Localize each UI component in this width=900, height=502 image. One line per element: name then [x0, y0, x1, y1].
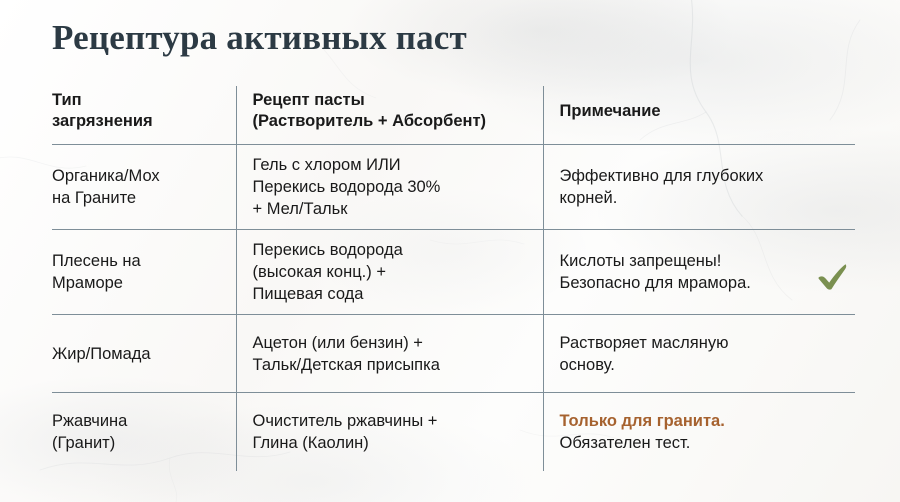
- cell-note: Кислоты запрещены! Безопасно для мрамора…: [543, 230, 855, 315]
- text-line-2: на Граните: [52, 187, 222, 209]
- text-line-2: Безопасно для мрамора.: [560, 272, 842, 294]
- text-line-1: Ржавчина: [52, 410, 222, 432]
- header-line-2: (Растворитель + Абсорбент): [253, 111, 529, 132]
- text-line-3: Пищевая сода: [253, 283, 529, 305]
- cell-contamination-type: Органика/Мох на Граните: [52, 145, 236, 230]
- cell-note: Растворяет масляную основу.: [543, 315, 855, 393]
- table-row: Ржавчина (Гранит) Очиститель ржавчины + …: [52, 393, 855, 471]
- column-header-contamination-type: Тип загрязнения: [52, 86, 236, 145]
- text-line-2: основу.: [560, 354, 842, 376]
- active-paste-recipe-table: Тип загрязнения Рецепт пасты (Растворите…: [52, 86, 855, 471]
- header-line-1: Тип: [52, 90, 222, 111]
- text-line-1: Кислоты запрещены!: [560, 250, 842, 272]
- text-line-2: Перекись водорода 30%: [253, 176, 529, 198]
- cell-note: Эффективно для глубоких корней.: [543, 145, 855, 230]
- text-line-1: Органика/Мох: [52, 165, 222, 187]
- text-line-2: Мраморе: [52, 272, 222, 294]
- cell-paste-recipe: Перекись водорода (высокая конц.) + Пище…: [236, 230, 543, 315]
- cell-note: Только для гранита. Обязателен тест.: [543, 393, 855, 471]
- text-line-2: корней.: [560, 187, 842, 209]
- check-mark-icon: [815, 259, 849, 293]
- column-header-note: Примечание: [543, 86, 855, 145]
- note-accent-text: Только для гранита.: [560, 410, 842, 432]
- table-row: Жир/Помада Ацетон (или бензин) + Тальк/Д…: [52, 315, 855, 393]
- text-line-1: Плесень на: [52, 250, 222, 272]
- text-line-2: Глина (Каолин): [253, 432, 529, 454]
- text-line-2: (высокая конц.) +: [253, 261, 529, 283]
- table-header-row: Тип загрязнения Рецепт пасты (Растворите…: [52, 86, 855, 145]
- text-line-1: Жир/Помада: [52, 343, 222, 365]
- header-line-2: загрязнения: [52, 111, 222, 132]
- table-header: Тип загрязнения Рецепт пасты (Растворите…: [52, 86, 855, 145]
- text-line-2: Тальк/Детская присыпка: [253, 354, 529, 376]
- cell-paste-recipe: Очиститель ржавчины + Глина (Каолин): [236, 393, 543, 471]
- text-line-1: Эффективно для глубоких: [560, 165, 842, 187]
- text-line-2: (Гранит): [52, 432, 222, 454]
- table-row: Органика/Мох на Граните Гель с хлором ИЛ…: [52, 145, 855, 230]
- text-line-1: Гель с хлором ИЛИ: [253, 154, 529, 176]
- text-line-1: Очиститель ржавчины +: [253, 410, 529, 432]
- table-body: Органика/Мох на Граните Гель с хлором ИЛ…: [52, 145, 855, 471]
- text-line-1: Ацетон (или бензин) +: [253, 332, 529, 354]
- table-row: Плесень на Мраморе Перекись водорода (вы…: [52, 230, 855, 315]
- text-line-1: Перекись водорода: [253, 239, 529, 261]
- cell-contamination-type: Плесень на Мраморе: [52, 230, 236, 315]
- header-line-1: Примечание: [560, 101, 842, 122]
- page-title: Рецептура активных паст: [52, 16, 467, 60]
- slide-content: Рецептура активных паст Тип загрязнения …: [0, 0, 900, 502]
- text-line-2: Обязателен тест.: [560, 432, 842, 454]
- cell-paste-recipe: Ацетон (или бензин) + Тальк/Детская прис…: [236, 315, 543, 393]
- cell-paste-recipe: Гель с хлором ИЛИ Перекись водорода 30% …: [236, 145, 543, 230]
- text-line-1: Растворяет масляную: [560, 332, 842, 354]
- text-line-3: + Мел/Тальк: [253, 198, 529, 220]
- cell-contamination-type: Ржавчина (Гранит): [52, 393, 236, 471]
- header-line-1: Рецепт пасты: [253, 90, 529, 111]
- column-header-paste-recipe: Рецепт пасты (Растворитель + Абсорбент): [236, 86, 543, 145]
- cell-contamination-type: Жир/Помада: [52, 315, 236, 393]
